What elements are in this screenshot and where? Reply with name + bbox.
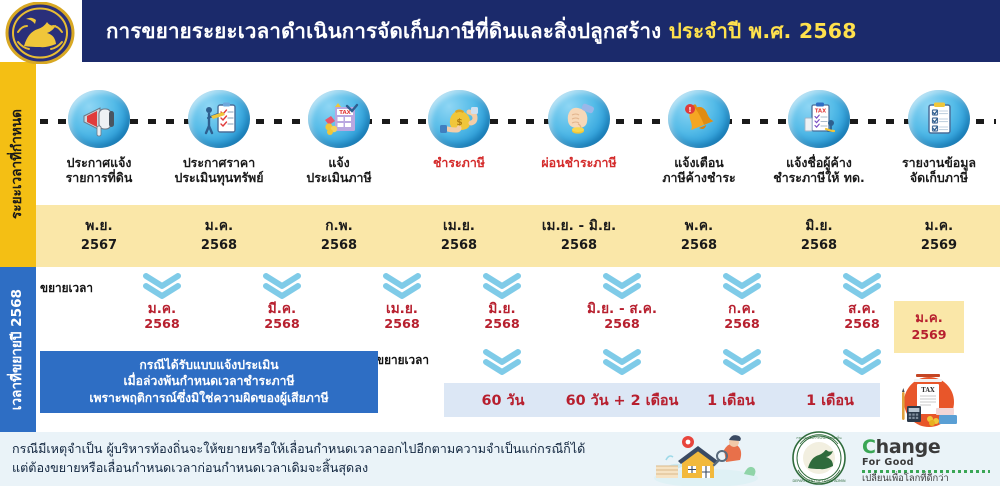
- page-title-year: ประจำปี พ.ศ. 2568: [669, 19, 857, 43]
- period-band: พ.ย. 2567 ม.ค. 2568 ก.พ. 2568 เม.ย. 2568…: [36, 205, 1000, 267]
- checklist-icon: [908, 90, 970, 148]
- period-month: ม.ค.: [925, 220, 953, 234]
- note-line-2: เมื่อล่วงพ้นกำหนดเวลาชำระภาษี: [123, 374, 294, 389]
- timeline-icons-row: ประกาศแจ้ง รายการที่ดิน ประกาศราคา ประเม…: [36, 62, 1000, 205]
- extension-date-0: ม.ค. 2568: [103, 301, 221, 332]
- timeline-step-1[interactable]: ประกาศราคา ประเมินทุนทรัพย์: [160, 62, 278, 205]
- change-logo-thai-tagline: เปลี่ยนเพื่อโลกที่ดีกว่า: [862, 474, 990, 483]
- money-bag-hand-icon: $: [428, 90, 490, 148]
- extension-year: 2568: [103, 317, 221, 332]
- timeline-step-0[interactable]: ประกาศแจ้ง รายการที่ดิน: [40, 62, 158, 205]
- header-bar: การขยายระยะเวลาดำเนินการจัดเก็บภาษีที่ดิ…: [82, 0, 1000, 62]
- change-logo-c: C: [862, 436, 876, 458]
- duration-cell-2: 1 เดือน: [682, 383, 780, 417]
- svg-text:!: !: [688, 106, 691, 114]
- house-search-illustration: [652, 430, 760, 486]
- period-month: ม.ค.: [205, 220, 233, 234]
- period-cell-3: เม.ย. 2568: [400, 205, 518, 267]
- final-extension-month: ม.ค.: [915, 312, 943, 325]
- period-month: ก.พ.: [325, 220, 353, 234]
- period-month: มิ.ย.: [805, 220, 832, 234]
- timeline-step-label: ประกาศแจ้ง รายการที่ดิน: [40, 155, 158, 186]
- dla-official-seal: กรมส่งเสริมการปกครองท้องถิ่น DEPARTMENT …: [790, 430, 848, 486]
- tax-document-icon: TAX: [788, 90, 850, 148]
- megaphone-icon: [68, 90, 130, 148]
- extension-date-1: มี.ค. 2568: [223, 301, 341, 332]
- timeline-step-label: ชำระภาษี: [400, 155, 518, 170]
- svg-text:TAX: TAX: [921, 387, 935, 394]
- period-year: 2568: [681, 239, 717, 252]
- chevron-down-icon: [142, 273, 182, 299]
- sidebar-extension-label: เวลาที่ขยายปี 2568: [0, 267, 36, 432]
- extension-month: มิ.ย. - ส.ค.: [563, 301, 681, 317]
- chevron-down-icon: [602, 273, 642, 299]
- extension-date-5: ก.ค. 2568: [683, 301, 801, 332]
- extend-time-label-1: ขยายเวลา: [40, 279, 93, 298]
- chevron-down-icon: [602, 349, 642, 375]
- timeline-step-5[interactable]: ! แจ้งเตือน ภาษีค้างชำระ: [640, 62, 758, 205]
- timeline-step-2[interactable]: TAX แจ้ง ประเมินภาษี: [280, 62, 398, 205]
- final-extension-year: 2569: [911, 329, 946, 342]
- clipboard-person-icon: [188, 90, 250, 148]
- page-title: การขยายระยะเวลาดำเนินการจัดเก็บภาษีที่ดิ…: [106, 21, 857, 42]
- chevron-down-icon: [382, 273, 422, 299]
- chevron-down-icon: [262, 273, 302, 299]
- footer-bar: กรณีมีเหตุจำเป็น ผู้บริหารท้องถิ่นจะให้ข…: [0, 432, 1000, 486]
- period-cell-2: ก.พ. 2568: [280, 205, 398, 267]
- chevron-down-icon: [722, 273, 762, 299]
- extension-year: 2568: [683, 317, 801, 332]
- infographic-poster: การขยายระยะเวลาดำเนินการจัดเก็บภาษีที่ดิ…: [0, 0, 1000, 486]
- timeline-step-label: แจ้ง ประเมินภาษี: [280, 155, 398, 186]
- extension-month: ม.ค.: [103, 301, 221, 317]
- period-year: 2568: [321, 239, 357, 252]
- extension-date-3: มิ.ย. 2568: [443, 301, 561, 332]
- extension-month: มี.ค.: [223, 301, 341, 317]
- chevron-down-icon: [482, 349, 522, 375]
- period-cell-5: พ.ค. 2568: [640, 205, 758, 267]
- page-title-main: การขยายระยะเวลาดำเนินการจัดเก็บภาษีที่ดิ…: [106, 19, 661, 43]
- timeline-step-6[interactable]: TAX แจ้งชื่อผู้ค้าง ชำระภาษีให้ ทด.: [760, 62, 878, 205]
- extension-year: 2568: [563, 317, 681, 332]
- period-month: เม.ย. - มิ.ย.: [542, 220, 616, 234]
- svg-text:DEPARTMENT OF LOCAL ADMIN: DEPARTMENT OF LOCAL ADMIN: [792, 479, 845, 483]
- tax-invoice-icon: TAX: [308, 90, 370, 148]
- period-cell-6: มิ.ย. 2568: [760, 205, 878, 267]
- footer-note-line-2: แต่ต้องขยายหรือเลื่อนกำหนดเวลาก่อนกำหนดเ…: [12, 459, 652, 478]
- period-year: 2567: [81, 239, 117, 252]
- period-year: 2568: [441, 239, 477, 252]
- timeline-step-label: รายงานข้อมูล จัดเก็บภาษี: [880, 155, 998, 186]
- period-cell-1: ม.ค. 2568: [160, 205, 278, 267]
- period-year: 2568: [201, 239, 237, 252]
- chevron-down-icon: [842, 349, 882, 375]
- period-month: พ.ย.: [85, 220, 112, 234]
- chevron-down-icon: [842, 273, 882, 299]
- duration-band: 60 วัน 60 วัน + 2 เดือน 1 เดือน 1 เดือน: [444, 383, 880, 417]
- change-for-good-logo: Change For Good เปลี่ยนเพื่อโลกที่ดีกว่า: [862, 438, 990, 480]
- change-logo-subtitle: For Good: [862, 458, 990, 468]
- sidebar-period-text: ระยะเวลาที่กำหนด: [11, 109, 25, 219]
- extension-year: 2568: [223, 317, 341, 332]
- extension-month: ก.ค.: [683, 301, 801, 317]
- change-logo-rest: hange: [876, 436, 941, 458]
- tax-documents-illustration: TAX: [896, 368, 962, 430]
- timeline-step-3[interactable]: $ ชำระภาษี: [400, 62, 518, 205]
- period-cell-0: พ.ย. 2567: [40, 205, 158, 267]
- timeline-step-4[interactable]: ผ่อนชำระภาษี: [520, 62, 638, 205]
- sidebar-period-label: ระยะเวลาที่กำหนด: [0, 62, 36, 267]
- chevron-down-icon: [482, 273, 522, 299]
- extend-time-label-2: ขยายเวลา: [376, 351, 429, 370]
- svg-text:TAX: TAX: [815, 109, 826, 115]
- period-cell-7: ม.ค. 2569: [880, 205, 998, 267]
- period-month: พ.ค.: [685, 220, 713, 234]
- period-year: 2569: [921, 239, 957, 252]
- timeline-step-label: แจ้งเตือน ภาษีค้างชำระ: [640, 155, 758, 186]
- svg-text:กรมส่งเสริมการปกครองท้องถิ่น: กรมส่งเสริมการปกครองท้องถิ่น: [796, 435, 842, 440]
- hand-coin-icon: [548, 90, 610, 148]
- duration-cell-1: 60 วัน + 2 เดือน: [562, 383, 682, 417]
- period-cell-4: เม.ย. - มิ.ย. 2568: [520, 205, 638, 267]
- note-line-1: กรณีได้รับแบบแจ้งประเมิน: [139, 358, 278, 373]
- assessment-note-box: กรณีได้รับแบบแจ้งประเมิน เมื่อล่วงพ้นกำห…: [40, 351, 378, 413]
- footer-note-line-1: กรณีมีเหตุจำเป็น ผู้บริหารท้องถิ่นจะให้ข…: [12, 440, 652, 459]
- duration-cell-3: 1 เดือน: [780, 383, 880, 417]
- chevron-down-icon: [722, 349, 762, 375]
- timeline-step-label: ประกาศราคา ประเมินทุนทรัพย์: [160, 155, 278, 186]
- extension-month: มิ.ย.: [443, 301, 561, 317]
- extension-date-4: มิ.ย. - ส.ค. 2568: [563, 301, 681, 332]
- duration-cell-0: 60 วัน: [444, 383, 562, 417]
- sidebar-extension-text: เวลาที่ขยายปี 2568: [11, 289, 25, 410]
- change-logo-title: Change: [862, 438, 990, 457]
- timeline-step-7[interactable]: รายงานข้อมูล จัดเก็บภาษี: [880, 62, 998, 205]
- bell-alert-icon: !: [668, 90, 730, 148]
- period-year: 2568: [801, 239, 837, 252]
- svg-text:TAX: TAX: [339, 110, 351, 116]
- footer-note: กรณีมีเหตุจำเป็น ผู้บริหารท้องถิ่นจะให้ข…: [12, 440, 652, 477]
- extension-year: 2568: [443, 317, 561, 332]
- period-month: เม.ย.: [443, 220, 475, 234]
- extension-area: ขยายเวลา ขยายเวลา ม.ค. 2568 มี.ค: [36, 267, 1000, 432]
- period-year: 2568: [561, 239, 597, 252]
- timeline-step-label: แจ้งชื่อผู้ค้าง ชำระภาษีให้ ทด.: [760, 155, 878, 186]
- note-line-3: เพราะพฤติการณ์ซึ่งมิใช่ความผิดของผู้เสีย…: [89, 391, 328, 406]
- final-extension-box: ม.ค. 2569: [894, 301, 964, 353]
- garuda-singha-emblem: [4, 2, 76, 64]
- timeline-step-label: ผ่อนชำระภาษี: [520, 155, 638, 170]
